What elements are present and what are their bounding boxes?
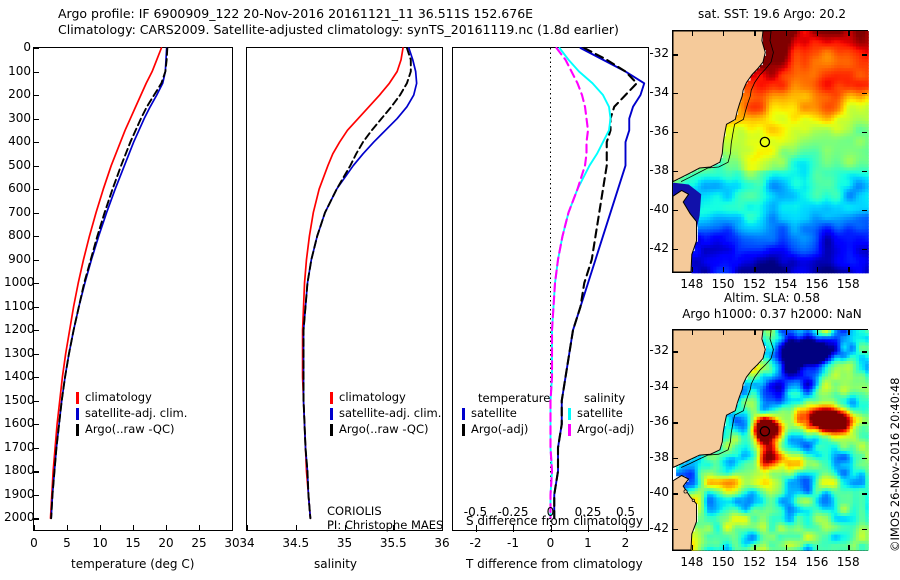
sla-latmarkR--32	[862, 351, 867, 352]
depth-tickmark-300	[34, 119, 39, 120]
sla-latmarkR--38	[862, 458, 867, 459]
legend-salinity-header: salinity	[584, 391, 625, 405]
sst-latmark--42	[673, 249, 678, 250]
sst-lonmarktop-152	[754, 31, 755, 36]
sla-lat--40: -40	[641, 485, 669, 499]
temp-xtick-mark-5	[199, 525, 200, 530]
sst-latmark--40	[673, 210, 678, 211]
depth-tick-900: 900	[4, 252, 31, 266]
temperature-plot-area	[34, 48, 232, 530]
legend-label-0: climatology	[85, 390, 152, 404]
imos-credit-text: ©IMOS 26-Nov-2016 20:40:48	[888, 378, 900, 552]
temp-xtick-mark-6	[232, 525, 233, 530]
sst-lat--36: -36	[641, 124, 669, 138]
sla-lon-158: 158	[828, 555, 868, 569]
depth-tick-1300: 1300	[4, 346, 31, 360]
sst-lonmark-148	[692, 267, 693, 272]
sla-latmarkR--40	[862, 493, 867, 494]
legend-label-2: Argo(..raw -QC)	[339, 422, 429, 436]
temperature-xlabel: temperature (deg C)	[71, 557, 194, 571]
sla-latmark--34	[673, 387, 678, 388]
depth-tickmark-1400	[34, 377, 39, 378]
coriolis-annotation: CORIOLIS	[327, 504, 382, 518]
sst-lat--40: -40	[641, 202, 669, 216]
sla-latmark--32	[673, 351, 678, 352]
sst-lat--32: -32	[641, 46, 669, 60]
depth-tick-2000: 2000	[4, 510, 31, 524]
sla-map-panel	[672, 329, 868, 551]
temp-xtick-mark-3	[133, 525, 134, 530]
sst-lonmark-158	[848, 267, 849, 272]
depth-tick-200: 200	[4, 87, 31, 101]
legend-temperature-header: temperature	[478, 391, 550, 405]
depth-tickmark-1000	[34, 283, 39, 284]
depth-tick-600: 600	[4, 181, 31, 195]
title-line-2: Climatology: CARS2009. Satellite-adjuste…	[58, 22, 619, 37]
sla-lonmarktop-158	[848, 330, 849, 335]
sst-latmark--34	[673, 93, 678, 94]
sla-latmark--38	[673, 458, 678, 459]
temp-xtick-mark-2	[100, 525, 101, 530]
legend-swatch-2	[76, 424, 79, 436]
sla-lonmarktop-154	[786, 330, 787, 335]
sla-lat--34: -34	[641, 379, 669, 393]
sst-latmark--38	[673, 171, 678, 172]
sst-lon-158: 158	[828, 277, 868, 291]
depth-tick-1600: 1600	[4, 416, 31, 430]
sla-latmarkR--36	[862, 422, 867, 423]
legend-swatch-1	[330, 408, 333, 420]
depth-tick-1700: 1700	[4, 440, 31, 454]
depth-tickmark-0	[34, 48, 39, 49]
legend-label-2: Argo(..raw -QC)	[85, 422, 175, 436]
difference-plot-area	[453, 48, 648, 530]
sla-lonmark-156	[817, 545, 818, 550]
sst-lat--34: -34	[641, 85, 669, 99]
sst-lat--38: -38	[641, 163, 669, 177]
depth-tickmark-1200	[34, 330, 39, 331]
sst-lonmark-150	[723, 267, 724, 272]
depth-tick-1400: 1400	[4, 369, 31, 383]
legend-T-swatch-0	[462, 408, 465, 420]
legend-swatch-1	[76, 408, 79, 420]
temp-xtick-mark-4	[166, 525, 167, 530]
sla-map-canvas	[673, 330, 867, 550]
sla-lonmarktop-148	[692, 330, 693, 335]
depth-tickmark-1500	[34, 401, 39, 402]
difference-xlabel-bottom: T difference from climatology	[466, 557, 643, 571]
depth-tick-1500: 1500	[4, 393, 31, 407]
legend-S-swatch-0	[568, 408, 571, 420]
sal-xtick-mark-1	[296, 525, 297, 530]
sla-lonmarktop-156	[817, 330, 818, 335]
sst-lonmarktop-148	[692, 31, 693, 36]
temp-xtick-mark-1	[67, 525, 68, 530]
depth-tick-300: 300	[4, 111, 31, 125]
legend-S-label-1: Argo(-adj)	[577, 422, 634, 436]
sst-lonmarktop-156	[817, 31, 818, 36]
depth-tick-400: 400	[4, 134, 31, 148]
sst-latmark--36	[673, 132, 678, 133]
sla-map-title-line1: Altim. SLA: 0.58	[672, 291, 872, 305]
sst-lonmarktop-154	[786, 31, 787, 36]
sst-map-canvas	[673, 31, 867, 272]
sla-lonmarktop-152	[754, 330, 755, 335]
temp-xtick-mark-0	[34, 525, 35, 530]
salinity-xlabel: salinity	[314, 557, 357, 571]
depth-tickmark-2000	[34, 518, 39, 519]
depth-tick-800: 800	[4, 228, 31, 242]
salinity-panel	[246, 47, 443, 531]
depth-tickmark-1600	[34, 424, 39, 425]
sst-map-title: sat. SST: 19.6 Argo: 20.2	[672, 7, 872, 21]
legend-label-1: satellite-adj. clim.	[85, 406, 187, 420]
sst-latmarkR--42	[862, 249, 867, 250]
diffT-xtick-label-4: 2	[596, 536, 656, 550]
imos-credit: ©IMOS 26-Nov-2016 20:40:48	[888, 552, 900, 566]
legend-S-label-0: satellite	[577, 406, 623, 420]
depth-tickmark-700	[34, 213, 39, 214]
sst-latmark--32	[673, 54, 678, 55]
temperature-panel	[33, 47, 233, 531]
legend-T-swatch-1	[462, 424, 465, 436]
legend-swatch-0	[76, 392, 79, 404]
sst-lonmarktop-158	[848, 31, 849, 36]
sla-lat--36: -36	[641, 414, 669, 428]
legend-swatch-0	[330, 392, 333, 404]
depth-tickmark-1100	[34, 307, 39, 308]
depth-tick-100: 100	[4, 64, 31, 78]
sla-lat--42: -42	[641, 521, 669, 535]
depth-tick-1200: 1200	[4, 322, 31, 336]
depth-tickmark-900	[34, 260, 39, 261]
depth-tickmark-1300	[34, 354, 39, 355]
depth-tick-700: 700	[4, 205, 31, 219]
sla-lonmark-152	[754, 545, 755, 550]
sst-latmarkR--38	[862, 171, 867, 172]
legend-label-0: climatology	[339, 390, 406, 404]
sla-lat--38: -38	[641, 450, 669, 464]
sst-latmarkR--32	[862, 54, 867, 55]
sal-xtick-mark-0	[247, 525, 248, 530]
sla-lonmarktop-150	[723, 330, 724, 335]
salinity-plot-area	[247, 48, 442, 530]
depth-tick-500: 500	[4, 158, 31, 172]
sla-lat--32: -32	[641, 343, 669, 357]
sla-latmarkR--34	[862, 387, 867, 388]
sst-lat--42: -42	[641, 241, 669, 255]
depth-tickmark-1900	[34, 495, 39, 496]
sst-latmarkR--40	[862, 210, 867, 211]
depth-tickmark-500	[34, 166, 39, 167]
sst-map-panel	[672, 30, 868, 273]
depth-tick-1100: 1100	[4, 299, 31, 313]
depth-tick-1000: 1000	[4, 275, 31, 289]
legend-T-label-0: satellite	[471, 406, 517, 420]
sla-lonmark-148	[692, 545, 693, 550]
depth-tickmark-800	[34, 236, 39, 237]
sla-latmark--36	[673, 422, 678, 423]
legend-S-swatch-1	[568, 424, 571, 436]
depth-tickmark-200	[34, 95, 39, 96]
depth-tickmark-1700	[34, 448, 39, 449]
sla-latmarkR--42	[862, 529, 867, 530]
sla-lonmark-158	[848, 545, 849, 550]
sla-map-title-line2: Argo h1000: 0.37 h2000: NaN	[662, 307, 882, 321]
title-line-1: Argo profile: IF 6900909_122 20-Nov-2016…	[58, 6, 533, 21]
difference-xlabel-top: S difference from climatology	[466, 514, 643, 528]
legend-swatch-2	[330, 424, 333, 436]
legend-T-label-1: Argo(-adj)	[471, 422, 528, 436]
depth-tick-1800: 1800	[4, 463, 31, 477]
depth-tickmark-600	[34, 189, 39, 190]
depth-tickmark-100	[34, 72, 39, 73]
sla-latmark--40	[673, 493, 678, 494]
depth-tick-0: 0	[4, 40, 31, 54]
pi-annotation: PI: Christophe MAES	[327, 518, 443, 532]
difference-panel	[452, 47, 649, 531]
sst-latmarkR--36	[862, 132, 867, 133]
sla-lonmark-150	[723, 545, 724, 550]
legend-label-1: satellite-adj. clim.	[339, 406, 441, 420]
sst-lonmark-156	[817, 267, 818, 272]
depth-tickmark-400	[34, 142, 39, 143]
sst-lonmark-154	[786, 267, 787, 272]
sla-lonmark-154	[786, 545, 787, 550]
sla-latmark--42	[673, 529, 678, 530]
sst-lonmarktop-150	[723, 31, 724, 36]
depth-tickmark-1800	[34, 471, 39, 472]
sst-lonmark-152	[754, 267, 755, 272]
sst-latmarkR--34	[862, 93, 867, 94]
depth-tick-1900: 1900	[4, 487, 31, 501]
